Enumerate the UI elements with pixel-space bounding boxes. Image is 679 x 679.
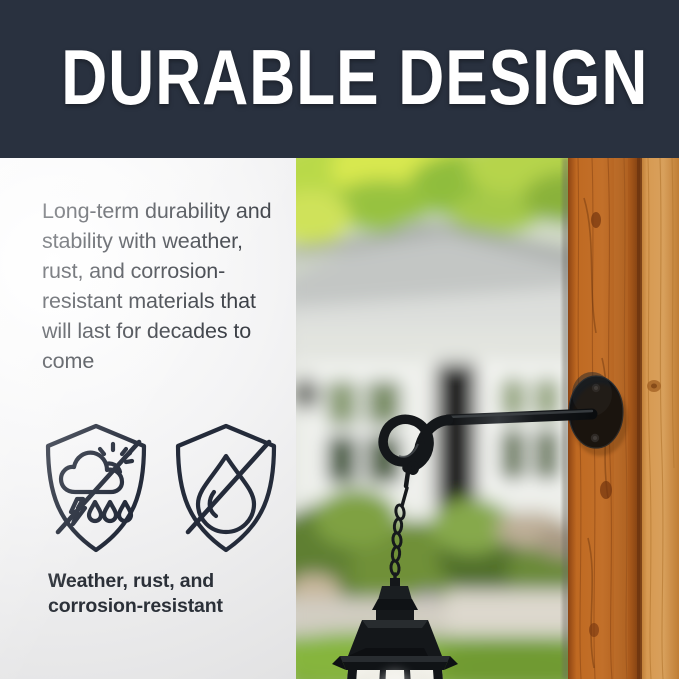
page-title: DURABLE DESIGN [61, 38, 618, 116]
feature-caption-text: Weather, rust, and corrosion-resistant [48, 569, 288, 619]
durable-design-feature-card: DURABLE DESIGN Long-term durability and … [0, 0, 679, 679]
outdoor-lantern-on-wall-hook-photo [296, 158, 679, 679]
no-water-droplet-shield-icon [170, 420, 282, 556]
body-copy-text: Long-term durability and stability with … [42, 196, 282, 376]
no-storm-weather-shield-icon [40, 420, 152, 556]
left-content-panel: Long-term durability and stability with … [0, 158, 296, 679]
feature-icon-row [40, 420, 290, 560]
header-banner: DURABLE DESIGN [0, 0, 679, 158]
